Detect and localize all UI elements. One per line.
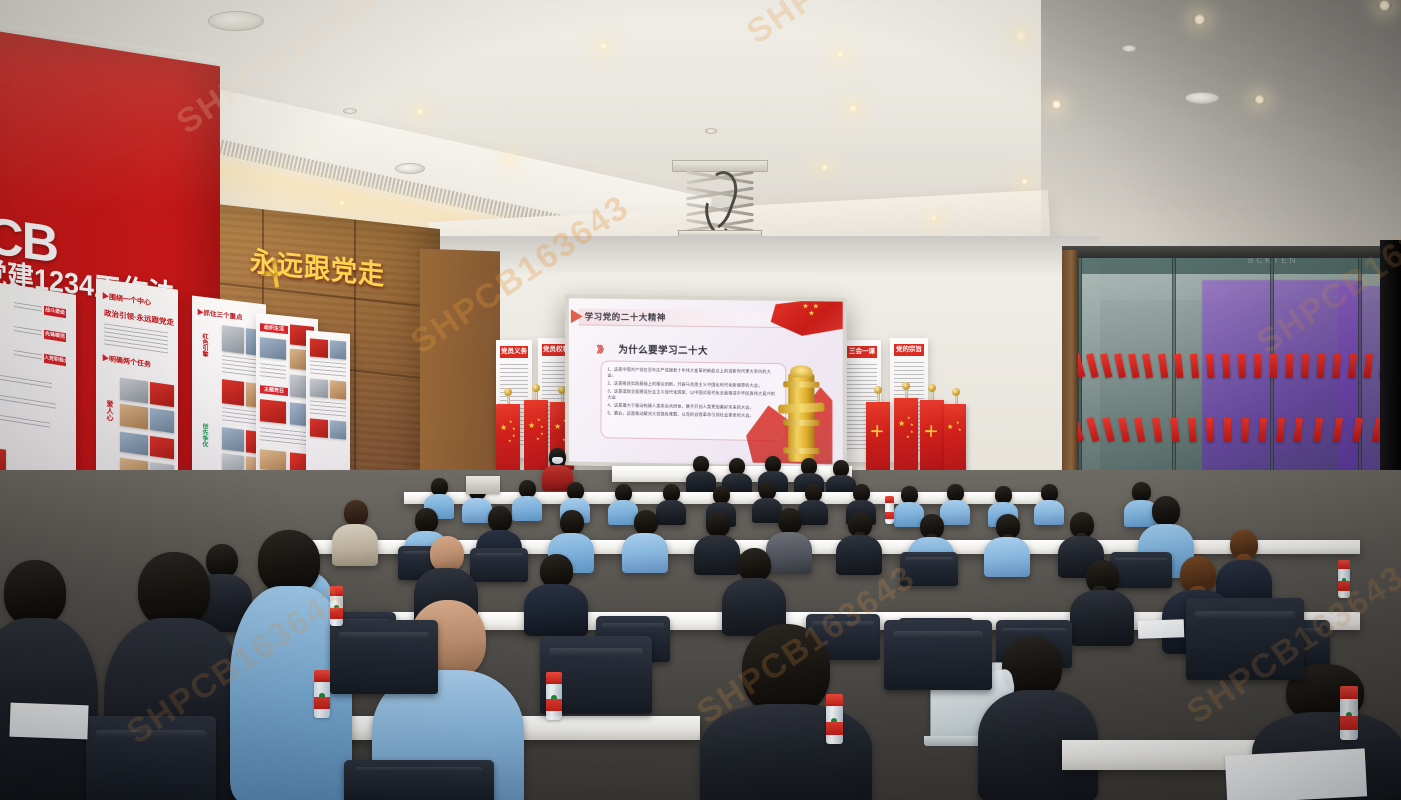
watermark: SHPCB163643 xyxy=(690,558,923,733)
meeting-room-photo: CB 党建1234工作法 永远跟党走 战斗堡垒 先锋模范 入党积极分子 ▶围绕一… xyxy=(0,0,1401,800)
watermark: SHPCB163643 xyxy=(404,188,637,363)
watermark: SHPCB163643 xyxy=(120,578,353,753)
watermark: SHPCB163643 xyxy=(170,0,403,142)
watermark-layer: SHPCB163643 SHPCB163643 SHPCB163643 SHPC… xyxy=(0,0,1401,800)
watermark: SHPCB163643 xyxy=(740,0,973,52)
watermark: SHPCB163643 xyxy=(1180,558,1401,733)
watermark: SHPCB163643 xyxy=(1250,188,1401,363)
